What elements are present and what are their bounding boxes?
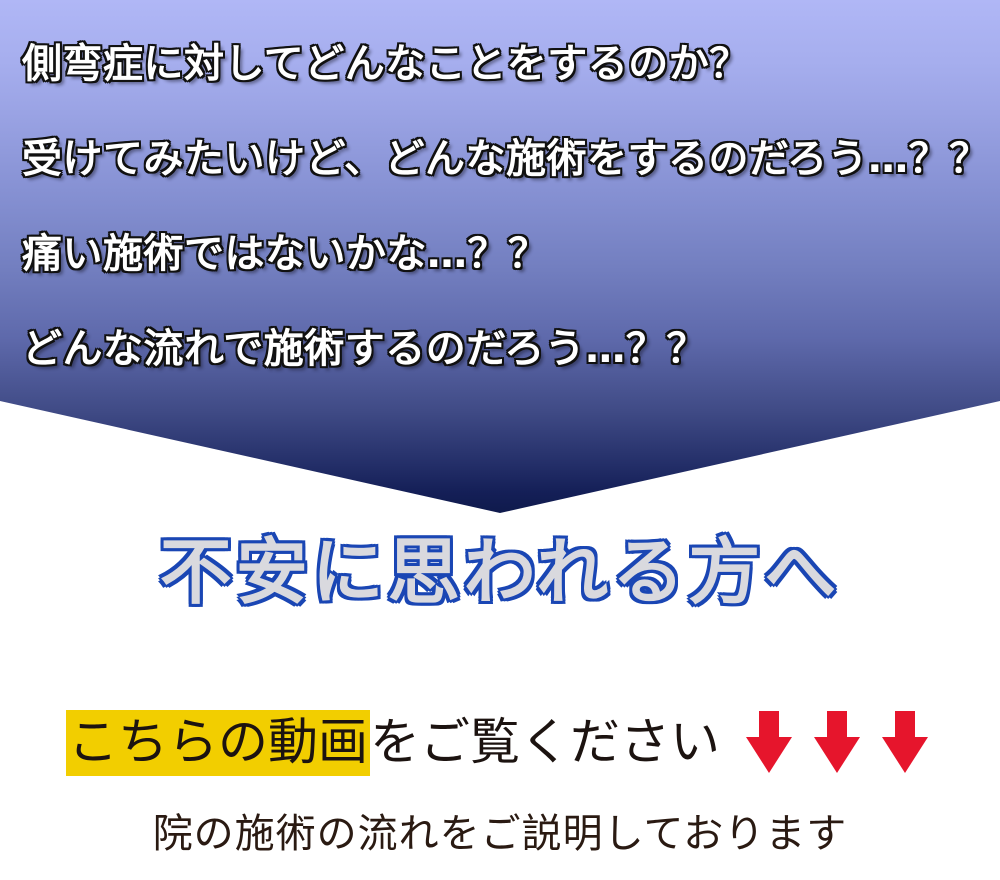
arrow-head [814, 737, 860, 773]
hero-question-3: 痛い施術ではないかな…？？ [22, 234, 549, 274]
hero-question-list: 側弯症に対してどんなことをするのか？ 受けてみたいけど、どんな施術をするのだろう… [0, 0, 1000, 420]
arrow-head [746, 737, 792, 773]
hero-question-2: 受けてみたいけど、どんな施術をするのだろう…？？ [22, 139, 990, 179]
arrow-shaft [895, 711, 915, 739]
down-arrow-icon-2 [814, 711, 860, 773]
promo-page: 側弯症に対してどんなことをするのか？ 受けてみたいけど、どんな施術をするのだろう… [0, 0, 1000, 880]
down-arrow-icon-1 [746, 711, 792, 773]
arrow-shaft [827, 711, 847, 739]
sub-caption: 院の施術の流れをご説明しております [0, 810, 1000, 858]
cta-rest-text: をご覧ください [370, 713, 720, 771]
cta-text: こちらの動画をご覧ください [66, 706, 720, 778]
hero-question-1: 側弯症に対してどんなことをするのか？ [22, 44, 750, 84]
down-arrow-icon-3 [882, 711, 928, 773]
arrow-head [882, 737, 928, 773]
arrow-shaft [759, 711, 779, 739]
page-headline: 不安に思われる方へ [0, 536, 1000, 608]
arrow-group [746, 711, 928, 773]
cta-highlight-text: こちらの動画 [66, 710, 370, 776]
cta-row: こちらの動画をご覧ください [0, 706, 1000, 778]
hero-question-4: どんな流れで施術するのだろう…？？ [22, 329, 707, 369]
